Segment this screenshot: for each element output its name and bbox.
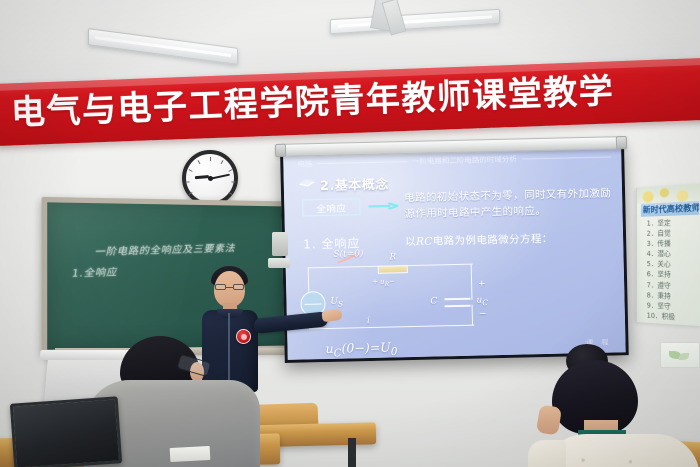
book-icon	[298, 177, 316, 188]
poster-title: 新时代高校教师	[641, 201, 699, 217]
definition-line-2: 源作用时电路中产生的响应。	[404, 201, 614, 222]
slide-header-right: 一阶电路和二阶电路的时域分析	[412, 154, 517, 167]
definition-text: 电路的初始状态不为零，同时又有外加激励 源作用时电路中产生的响应。	[404, 185, 615, 222]
resistor-icon	[378, 265, 408, 274]
clock-hour-hand	[194, 175, 208, 179]
slide-header-rule	[317, 161, 406, 164]
capacitor-plate-icon	[445, 305, 471, 307]
paper-sheet	[170, 446, 211, 462]
slide-item-note: 以RC电路为例电路微分方程：	[405, 231, 553, 249]
term-highlight-box: 全响应	[302, 198, 360, 216]
ic-sub2: 0	[391, 346, 398, 358]
current-label: i	[367, 316, 370, 326]
ur-main: + u	[372, 278, 385, 286]
glasses-icon	[215, 284, 244, 290]
ic-rest: (0−)=U	[341, 340, 391, 356]
ceiling-fan-icon	[360, 0, 432, 32]
chalk-text-line-1: 一阶电路的全响应及三要素法	[94, 240, 235, 258]
note-prefix: 以	[405, 236, 416, 248]
capacitor-label: C	[430, 296, 437, 306]
pointing-hand	[321, 309, 342, 322]
list-item: 5．关心	[647, 259, 700, 270]
clock-center-cap	[208, 176, 213, 181]
wall-poster: 新时代高校教师 1．坚定 2．自觉 3．传播 4．潜心 5．关心 6．坚持 7．…	[636, 184, 700, 326]
capacitor-plate-icon	[444, 298, 470, 300]
wall-bracket	[272, 232, 288, 256]
list-item: 4．潜心	[647, 249, 700, 260]
list-item: 3．传播	[647, 238, 700, 249]
seated-attendee-right	[528, 344, 700, 467]
arrow-right-icon	[368, 202, 398, 210]
note-italic: RC	[416, 236, 433, 248]
classroom-photo: 电气与电子工程学院青年教师课堂教学 一阶电路的全响应及三要素法 1.全响应	[0, 0, 700, 467]
slide-header-rule	[522, 156, 611, 159]
slide-header-left: 电路	[297, 158, 312, 169]
hand	[536, 404, 562, 435]
resistor-label: R	[389, 252, 396, 262]
wall-clock	[182, 150, 238, 206]
desk-leg	[348, 438, 356, 467]
capacitor-voltage-label: uC	[476, 295, 488, 307]
list-item: 10．积极	[647, 310, 700, 323]
slide-heading: 2.基本概念	[320, 174, 389, 195]
capacitor-minus-sign: −	[479, 309, 487, 319]
ceiling-light-icon	[88, 28, 238, 65]
capacitor-plus-sign: +	[478, 279, 486, 289]
note-suffix: 电路为例电路微分方程：	[433, 233, 553, 248]
desk-monitor	[10, 396, 122, 467]
poster-list: 1．坚定 2．自觉 3．传播 4．潜心 5．关心 6．坚持 7．遵守 8．秉持 …	[647, 217, 700, 324]
resistor-voltage-label: + uR−	[372, 277, 395, 288]
uc-sub: C	[482, 298, 488, 307]
pointing-arm	[253, 311, 328, 334]
ur-end: −	[389, 277, 395, 285]
term-label: 全响应	[316, 200, 346, 215]
arm	[528, 440, 566, 467]
chalk-text-line-2: 1.全响应	[72, 264, 118, 280]
list-item: 2．自觉	[647, 228, 700, 239]
switch-label: S(t=0)	[333, 249, 363, 260]
